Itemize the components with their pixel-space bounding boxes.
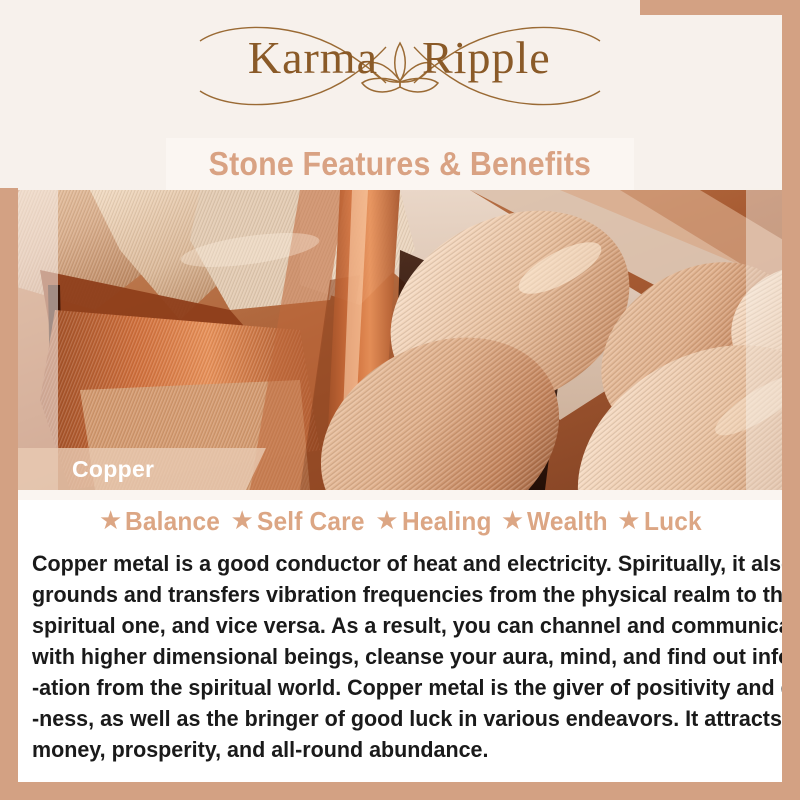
star-icon: ★ <box>501 507 524 533</box>
frame-accent-right <box>782 0 800 800</box>
feature-label: Healing <box>402 506 492 537</box>
feature-item-self-care: ★ Self Care <box>226 506 371 537</box>
feature-label: Self Care <box>257 506 365 537</box>
feature-item-balance: ★ Balance <box>95 506 226 537</box>
brand-logo: Karma Ripple <box>0 0 800 130</box>
star-icon: ★ <box>230 507 253 533</box>
description-text: Copper metal is a good conductor of heat… <box>32 548 774 765</box>
frame-accent-left <box>0 188 18 800</box>
card-top-fade <box>18 490 782 500</box>
description-line: with higher dimensional beings, cleanse … <box>32 641 741 672</box>
photo-caption-tag: Copper <box>18 448 154 490</box>
star-icon: ★ <box>99 507 122 533</box>
description-line: money, prosperity, and all-round abundan… <box>32 734 741 765</box>
feature-list: ★ Balance ★ Self Care ★ Healing ★ Wealth… <box>18 502 782 540</box>
feature-item-luck: ★ Luck <box>613 506 705 537</box>
brand-logo-artwork: Karma Ripple <box>190 15 610 115</box>
page-title: Stone Features & Benefits <box>209 145 592 183</box>
description-line: Copper metal is a good conductor of heat… <box>32 548 741 579</box>
copper-bars-photo <box>0 190 800 490</box>
right-edge-wash <box>746 188 782 490</box>
feature-item-wealth: ★ Wealth <box>497 506 613 537</box>
feature-label: Balance <box>125 506 220 537</box>
description-line: -ness, as well as the bringer of good lu… <box>32 703 741 734</box>
feature-label: Luck <box>644 506 702 537</box>
section-title-banner: Stone Features & Benefits <box>166 138 634 190</box>
frame-accent-bottom <box>0 782 800 800</box>
description-line: grounds and transfers vibration frequenc… <box>32 579 741 610</box>
feature-label: Wealth <box>527 506 608 537</box>
frame-accent-top <box>640 0 800 15</box>
brand-name-right: Ripple <box>422 32 551 83</box>
description-line: spiritual one, and vice versa. As a resu… <box>32 610 741 641</box>
star-icon: ★ <box>617 507 640 533</box>
star-icon: ★ <box>375 507 398 533</box>
description-line: -ation from the spiritual world. Copper … <box>32 672 741 703</box>
content-card: ★ Balance ★ Self Care ★ Healing ★ Wealth… <box>18 490 782 782</box>
brand-name-left: Karma <box>248 32 378 83</box>
product-infographic: Karma Ripple Stone Features & Benefits <box>0 0 800 800</box>
hero-photo <box>0 190 800 490</box>
left-edge-wash <box>18 188 58 490</box>
feature-item-healing: ★ Healing <box>371 506 497 537</box>
photo-caption-label: Copper <box>18 448 154 483</box>
